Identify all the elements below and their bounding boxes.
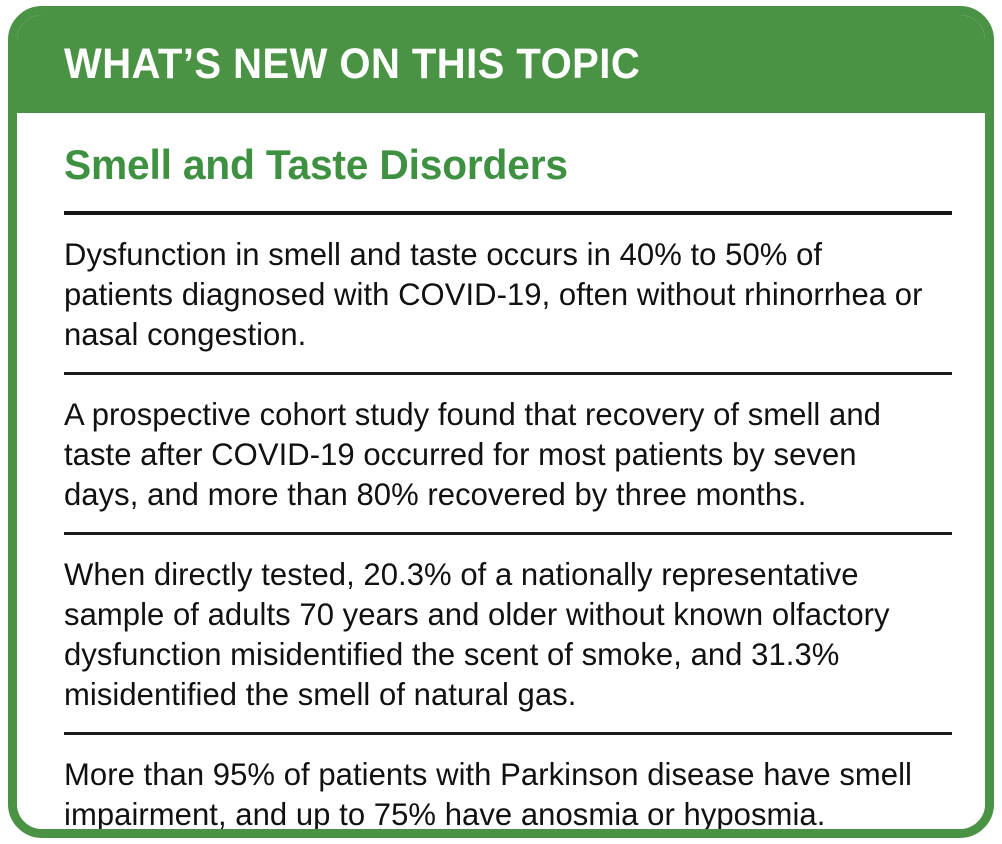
fact-item: When directly tested, 20.3% of a nationa… [64, 535, 931, 732]
whats-new-card: WHAT’S NEW ON THIS TOPIC Smell and Taste… [8, 6, 994, 838]
fact-item: A prospective cohort study found that re… [64, 375, 931, 532]
card-body: Smell and Taste Disorders Dysfunction in… [17, 113, 985, 838]
fact-item: More than 95% of patients with Parkinson… [64, 735, 931, 838]
card-header-band: WHAT’S NEW ON THIS TOPIC [17, 15, 985, 113]
card-header-title: WHAT’S NEW ON THIS TOPIC [64, 43, 640, 86]
fact-item: Dysfunction in smell and taste occurs in… [64, 215, 931, 372]
section-title: Smell and Taste Disorders [64, 113, 918, 186]
